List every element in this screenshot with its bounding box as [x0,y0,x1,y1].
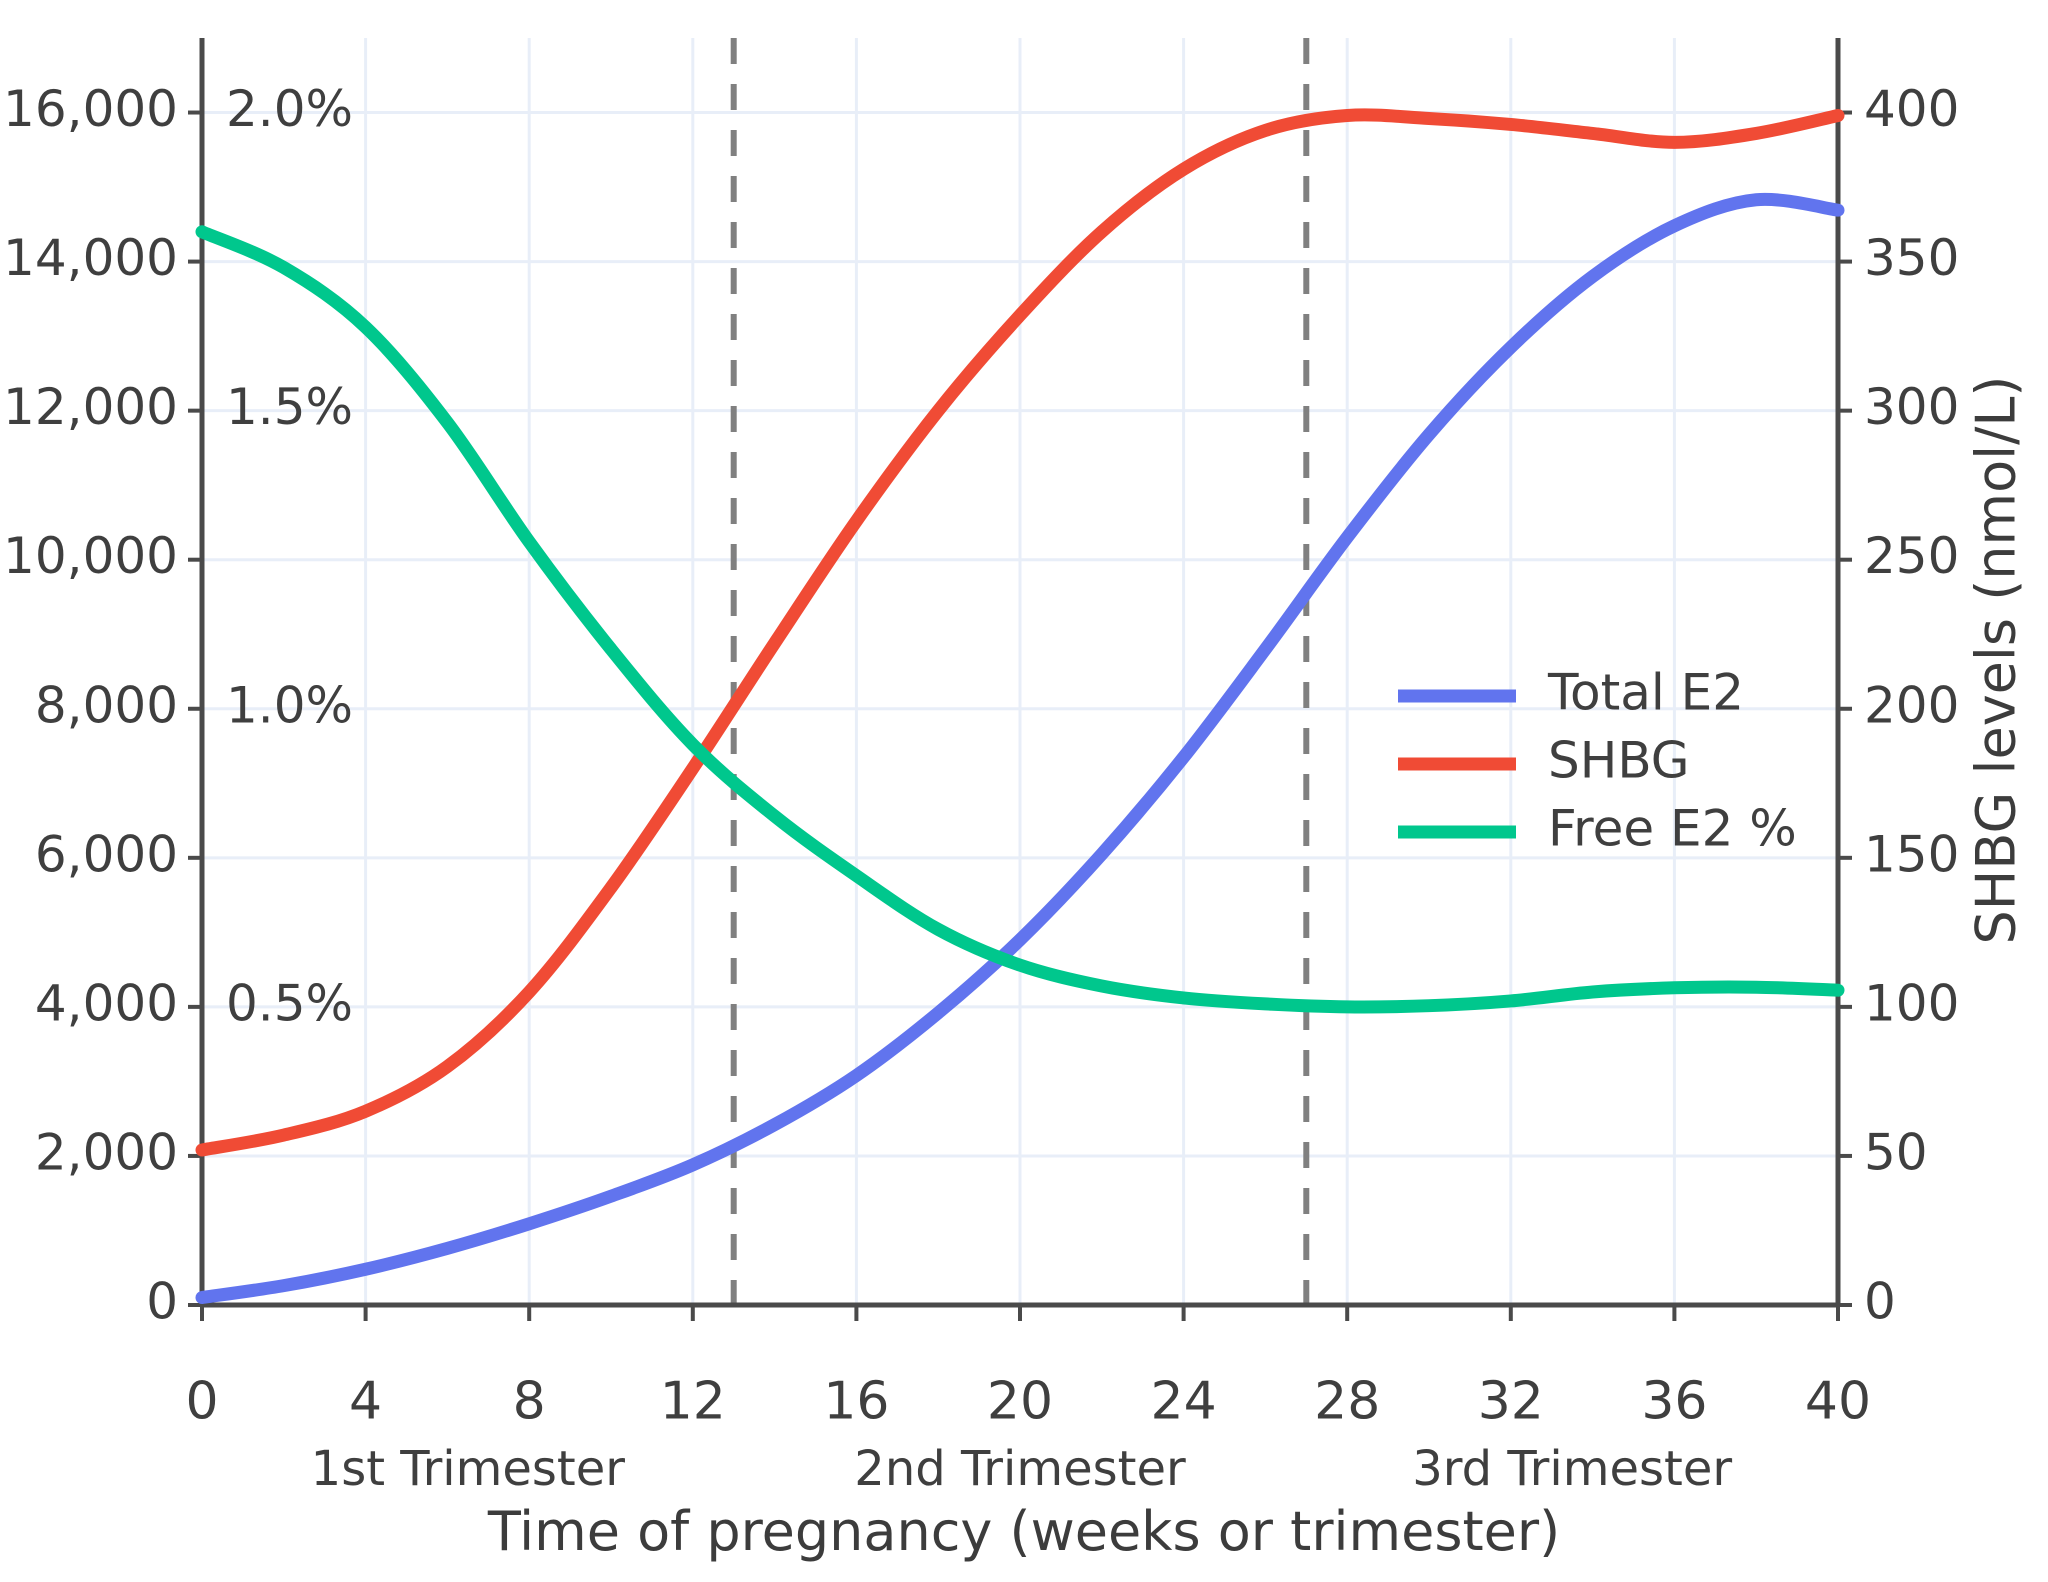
legend-label: SHBG [1548,732,1690,790]
y2-axis-tick-label: 50 [1864,1123,1928,1181]
x-axis-tick-label: 8 [513,1372,546,1432]
x-axis-tick-label: 20 [987,1372,1053,1432]
x-axis-title: Time of pregnancy (weeks or trimester) [487,1500,1560,1563]
y2-axis-tick-label: 400 [1864,80,1959,138]
chart-background [0,0,2048,1582]
y-axis-tick-label: 8,000 [35,676,178,734]
trimester-label: 2nd Trimester [854,1441,1186,1497]
y-axis-tick-label: 2,000 [35,1123,178,1181]
trimester-labels: 1st Trimester2nd Trimester3rd Trimester [311,1441,1733,1497]
y2-axis-title: SHBG levels (nmol/L) [1965,376,2028,945]
x-axis-tick-label: 36 [1641,1372,1707,1432]
x-axis-tick-label: 16 [823,1372,889,1432]
y-axis-tick-label: 12,000 [3,378,178,436]
y-axis-tick-label: 14,000 [3,229,178,287]
y2-axis-tick-label: 200 [1864,676,1959,734]
y-axis-tick-label: 6,000 [35,825,178,883]
legend-label: Total E2 [1547,664,1744,722]
x-axis-tick-label: 28 [1314,1372,1380,1432]
y2-axis-tick-label: 250 [1864,527,1959,585]
percent-axis-label: 1.0% [226,676,353,734]
percent-axis-label: 2.0% [226,80,353,138]
x-axis-tick-label: 24 [1151,1372,1217,1432]
x-axis-tick-label: 40 [1805,1372,1871,1432]
chart-container: 02,0004,0006,0008,00010,00012,00014,0001… [0,0,2048,1582]
x-axis-tick-label: 4 [349,1372,382,1432]
legend-label: Free E2 % [1548,800,1797,858]
trimester-label: 1st Trimester [311,1441,626,1497]
y-axis-tick-label: 16,000 [3,80,178,138]
y2-axis-tick-label: 0 [1864,1273,1896,1331]
pregnancy-hormone-line-chart: 02,0004,0006,0008,00010,00012,00014,0001… [0,0,2048,1582]
x-axis-tick-label: 12 [660,1372,726,1432]
y2-axis-tick-label: 150 [1864,825,1959,883]
x-axis-tick-label: 0 [185,1372,218,1432]
y-axis-tick-label: 4,000 [35,974,178,1032]
y-axis-tick-label: 0 [146,1273,178,1331]
percent-axis-label: 0.5% [226,974,353,1032]
percent-axis-label: 1.5% [226,378,353,436]
y2-axis-tick-label: 300 [1864,378,1959,436]
trimester-label: 3rd Trimester [1412,1441,1732,1497]
y2-axis-tick-label: 100 [1864,974,1959,1032]
y-axis-tick-label: 10,000 [3,527,178,585]
y2-axis-tick-label: 350 [1864,229,1959,287]
x-axis-tick-label: 32 [1478,1372,1544,1432]
